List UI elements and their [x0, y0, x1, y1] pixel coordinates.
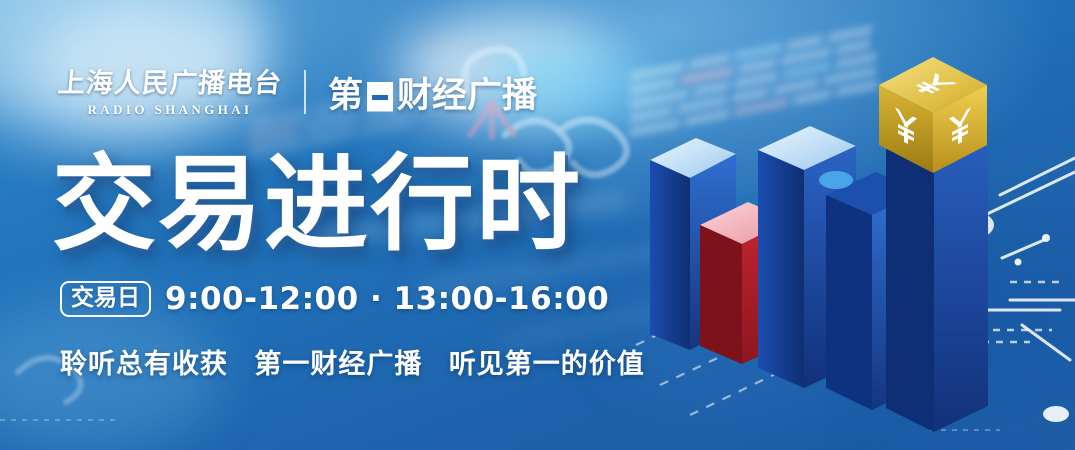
station-name-en: RADIO SHANGHAI: [88, 102, 253, 118]
station-logo-row: 上海人民广播电台 RADIO SHANGHAI 第 财经广播: [58, 60, 537, 118]
program-title: 交易进行时: [52, 152, 582, 256]
schedule-row: 交易日 9:00-12:00 · 13:00-16:00: [60, 281, 609, 317]
golden-yuan-cube: [873, 55, 993, 180]
channel-yi-glyph-icon: [367, 82, 393, 112]
bar-glow-accent: [819, 171, 853, 189]
tagline-row: 聆听总有收获 第一财经广播 听见第一的价值: [60, 351, 645, 378]
broadcast-times: 9:00-12:00 · 13:00-16:00: [165, 284, 609, 315]
logo-divider: [304, 70, 306, 114]
radio-program-banner: 上海人民广播电台 RADIO SHANGHAI 第 财经广播 交易进行时 交易日…: [0, 0, 1075, 450]
radio-shanghai-logo: 上海人民广播电台 RADIO SHANGHAI: [58, 70, 282, 118]
channel-suffix: 财经广播: [397, 79, 537, 114]
channel-prefix: 第: [328, 79, 363, 114]
tagline-part-2: 第一财经广播: [254, 349, 422, 380]
station-name-cn: 上海人民广播电台: [57, 70, 283, 97]
banner-content: 上海人民广播电台 RADIO SHANGHAI 第 财经广播 交易进行时 交易日…: [0, 0, 640, 450]
trading-day-badge: 交易日: [60, 281, 151, 317]
tagline-part-1: 聆听总有收获: [60, 349, 228, 380]
tagline-part-3: 听见第一的价值: [449, 349, 645, 380]
channel-logo: 第 财经广播: [328, 79, 537, 114]
